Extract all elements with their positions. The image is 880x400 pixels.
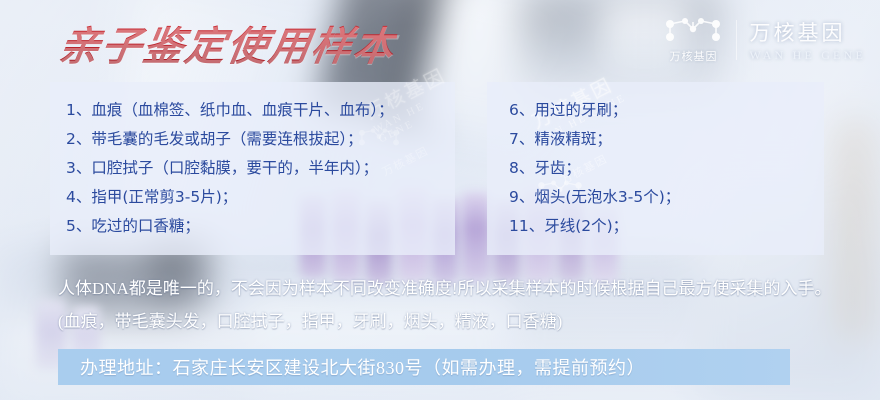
- brand-logo: 万核基因 万核基因 WAN HE GENE: [662, 16, 866, 64]
- list-item: 3、口腔拭子（口腔黏膜，要干的，半年内）；: [50, 154, 455, 183]
- logo-mark: 万核基因: [662, 16, 724, 64]
- list-item: 6、用过的牙刷；: [487, 96, 824, 125]
- poster-canvas: 亲子鉴定使用样本: [0, 0, 880, 400]
- logo-name-en: WAN HE GENE: [749, 48, 866, 63]
- list-item: 4、指甲(正常剪3-5片)；: [50, 183, 455, 212]
- logo-mark-label: 万核基因: [669, 48, 717, 64]
- logo-divider: [736, 20, 737, 60]
- list-item: 5、吃过的口香糖；: [50, 212, 455, 241]
- list-item: 2、带毛囊的毛发或胡子（需要连根拔起）；: [50, 125, 455, 154]
- description-paragraph: 人体DNA都是唯一的，不会因为样本不同改变准确度!所以采集样本的时候根据自己最方…: [58, 272, 848, 338]
- list-item: 11、牙线(2个)；: [487, 212, 824, 241]
- list-item: 1、血痕（血棉签、纸巾血、血痕干片、血布）；: [50, 96, 455, 125]
- page-title: 亲子鉴定使用样本: [55, 14, 400, 72]
- list-item: 7、精液精斑；: [487, 125, 824, 154]
- address-banner: 办理地址：石家庄长安区建设北大街830号（如需办理，需提前预约）: [58, 349, 790, 385]
- list-item: 8、牙齿；: [487, 154, 824, 183]
- molecule-icon: [662, 16, 724, 46]
- sample-list-right: 6、用过的牙刷； 7、精液精斑； 8、牙齿； 9、烟头(无泡水3-5个)； 11…: [487, 82, 824, 241]
- sample-list-panel-right: 万核基因 WAN HE GENE 万核基因 6、用过的牙刷；: [487, 82, 824, 255]
- sample-list-panel-left: 万核基因 WAN HE GENE 万核基因 1、血痕（血棉签、纸巾血、血: [50, 82, 455, 255]
- logo-wordmark: 万核基因 WAN HE GENE: [749, 17, 866, 63]
- list-item: 9、烟头(无泡水3-5个)；: [487, 183, 824, 212]
- sample-list-left: 1、血痕（血棉签、纸巾血、血痕干片、血布）； 2、带毛囊的毛发或胡子（需要连根拔…: [50, 82, 455, 241]
- address-banner-text: 办理地址：石家庄长安区建设北大街830号（如需办理，需提前预约）: [58, 354, 645, 380]
- logo-name-cn: 万核基因: [749, 17, 866, 47]
